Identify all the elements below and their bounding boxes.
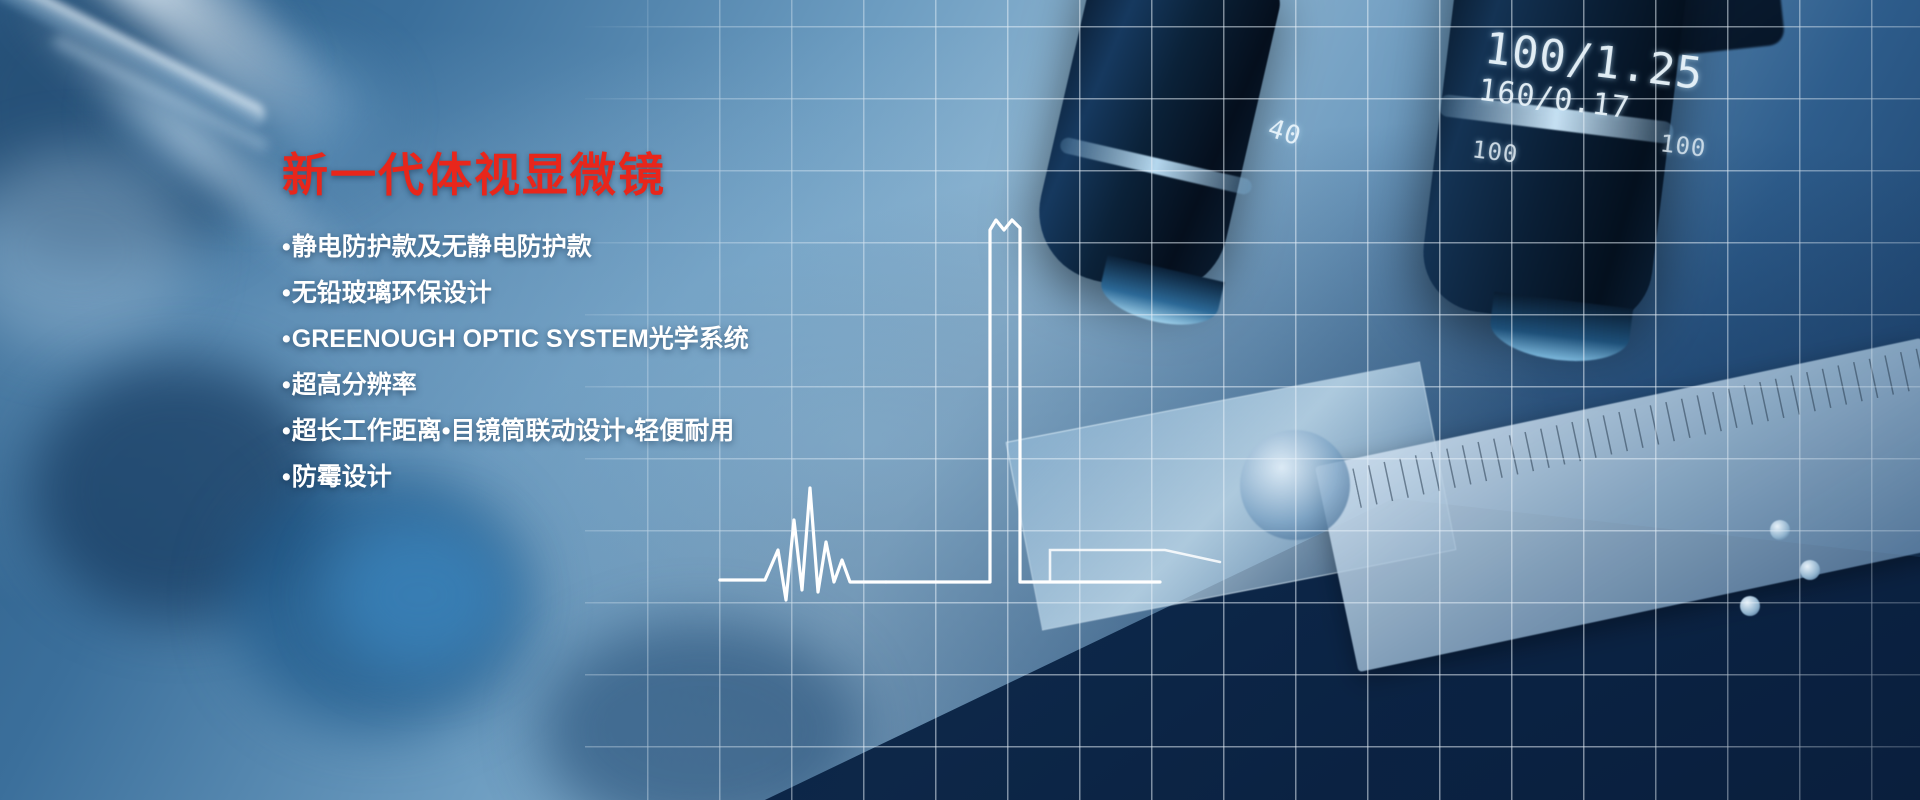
bullet-icon: •	[282, 371, 291, 399]
list-item-label: 静电防护款及无静电防护款	[292, 233, 592, 261]
feature-list: •静电防护款及无静电防护款 •无铅玻璃环保设计 •GREENOUGH OPTIC…	[282, 235, 922, 490]
bokeh-blob	[330, 520, 510, 670]
page-title: 新一代体视显微镜	[282, 150, 922, 201]
list-item: •防霉设计	[282, 465, 922, 490]
list-item: •GREENOUGH OPTIC SYSTEM光学系统	[282, 327, 922, 352]
list-item-label: 超长工作距离•目镜筒联动设计•轻便耐用	[292, 417, 735, 445]
list-item: •超长工作距离•目镜筒联动设计•轻便耐用	[282, 419, 922, 444]
list-item-label: 无铅玻璃环保设计	[292, 279, 492, 307]
list-item: •超高分辨率	[282, 373, 922, 398]
bullet-icon: •	[282, 233, 291, 261]
bullet-icon: •	[282, 417, 291, 445]
bullet-icon: •	[282, 325, 291, 353]
list-item: •无铅玻璃环保设计	[282, 281, 922, 306]
list-item-label: GREENOUGH OPTIC SYSTEM光学系统	[292, 325, 749, 353]
list-item-label: 防霉设计	[292, 463, 392, 491]
list-item: •静电防护款及无静电防护款	[282, 235, 922, 260]
product-hero-banner: 100/1.25 160/0.17 40 100 100 新一代体视显微镜 •静…	[0, 0, 1920, 800]
list-item-label: 超高分辨率	[292, 371, 417, 399]
bullet-icon: •	[282, 279, 291, 307]
copy-block: 新一代体视显微镜 •静电防护款及无静电防护款 •无铅玻璃环保设计 •GREENO…	[282, 150, 922, 511]
bullet-icon: •	[282, 463, 291, 491]
